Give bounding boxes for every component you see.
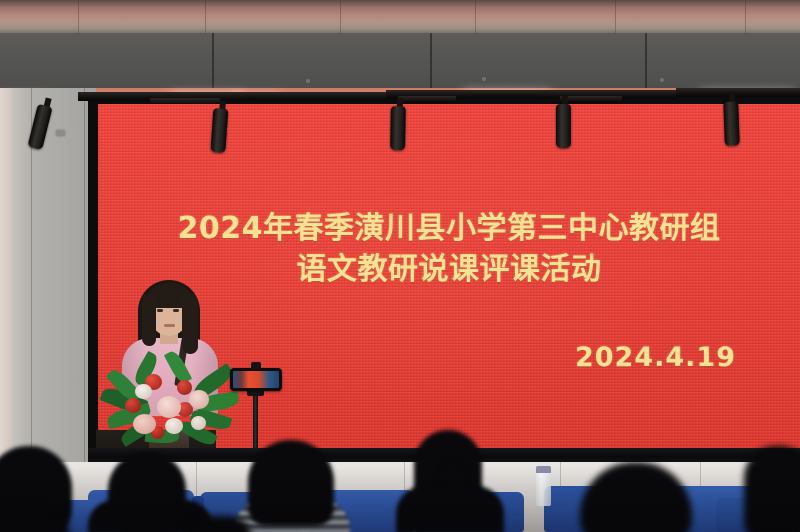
led-title-line-2: 语文教研说课评课活动 [98,249,800,290]
wall-sensor-icon [56,130,65,136]
led-title-line-1: 2024年春季潢川县小学第三中心教研组 [98,208,800,249]
audience-member-3 [248,440,334,526]
audience-member-6 [744,446,800,532]
floral-arrangement [105,358,235,450]
left-wall-panels [0,88,96,468]
flower-pink-1 [157,396,181,418]
photo-scene: 2024年春季潢川县小学第三中心教研组 语文教研说课评课活动 2024.4.19 [0,0,800,532]
flower-white-2 [165,418,183,434]
flower-white-3 [191,416,206,430]
phone-screen [233,371,279,388]
flower-red-2 [177,380,192,395]
flower-pink-3 [189,390,209,409]
left-wall-edge [0,88,12,468]
light-track-rail-right [676,88,800,97]
ceiling-upper-panel [0,0,800,34]
flower-pink-2 [133,414,156,434]
water-bottle-1 [536,466,551,506]
led-date: 2024.4.19 [575,342,736,373]
recording-smartphone [230,368,282,391]
audience-member-4-body [396,486,504,532]
flower-white-1 [135,384,152,399]
flower-red-3 [125,398,141,413]
light-track-rail-step-2 [398,96,456,103]
ceiling-lower-panel [0,33,800,90]
light-track-rail-step-3 [560,96,622,103]
light-track-rail-left [78,92,386,101]
led-title-block: 2024年春季潢川县小学第三中心教研组 语文教研说课评课活动 [98,208,800,290]
